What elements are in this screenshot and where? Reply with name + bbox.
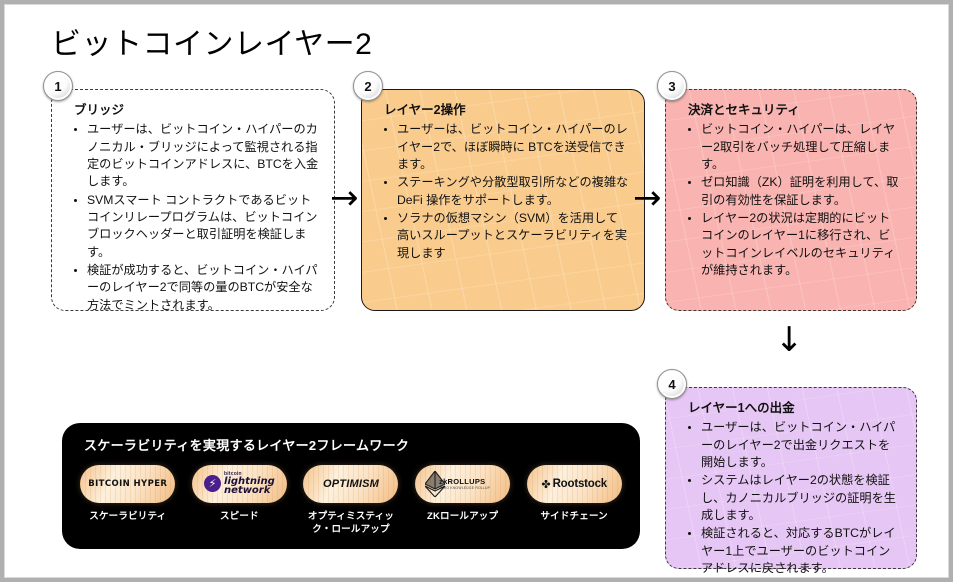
logo-caption: スピード [220,511,259,524]
logo-caption: ZKロールアップ [427,511,498,524]
arrow-right-icon: → [633,181,662,215]
lightning-network-logo-icon: ⚡ bitcoin lightning network [192,465,287,503]
list-item: 検証されると、対応するBTCがレイヤー1上でユーザーのビットコインアドレスに戻さ… [701,525,902,577]
card-bullets-4: ユーザーは、ビットコイン・ハイパーのレイヤー2で出金リクエストを開始します。 シ… [684,419,902,577]
logo-cell-zk-rollups: zkROLLUPS ZERO KNOWLEDGE ROLLUP ZKロールアップ [411,465,515,524]
rootstock-logo-icon: ✤ Rootstock [527,465,622,503]
list-item: ユーザーは、ビットコイン・ハイパーのレイヤー2で、ほぼ瞬時に BTCを送受信でき… [397,121,630,173]
list-item: ユーザーは、ビットコイン・ハイパーのレイヤー2で出金リクエストを開始します。 [701,419,902,471]
list-item: SVMスマート コントラクトであるビットコインリレープログラムは、ビットコインブ… [87,192,320,261]
bitcoin-hyper-logo-icon: BITCOIN HYPER [80,465,175,503]
logo-caption: スケーラビリティ [89,511,166,524]
list-item: システムはレイヤー2の状態を検証し、カノニカルブリッジの証明を生成します。 [701,472,902,524]
lightning-bolt-icon: ⚡ [204,475,221,492]
logo-brand-text: OPTIMISM [323,478,379,490]
logo-cell-rootstock: ✤ Rootstock サイドチェーン [522,465,626,524]
step-card-layer1-withdrawal: レイヤー1への出金 ユーザーは、ビットコイン・ハイパーのレイヤー2で出金リクエス… [665,387,917,569]
step-badge-4: 4 [657,369,687,399]
list-item: ゼロ知識（ZK）証明を利用して、取引の有効性を保証します。 [701,174,902,209]
step-badge-3: 3 [657,71,687,101]
arrow-down-icon: ↓ [775,323,804,357]
list-item: 検証が成功すると、ビットコイン・ハイパーのレイヤー2で同等の量のBTCが安全な方… [87,262,320,314]
arrow-right-icon: → [330,181,359,215]
card-bullets-1: ユーザーは、ビットコイン・ハイパーのカノニカル・ブリッジによって監視される指定の… [70,121,320,314]
logo-brand-text: zkROLLUPS [439,478,485,486]
step-card-bridge: ブリッジ ユーザーは、ビットコイン・ハイパーのカノニカル・ブリッジによって監視さ… [51,89,335,311]
diagram-canvas: ビットコインレイヤー2 ブリッジ ユーザーは、ビットコイン・ハイパーのカノニカル… [4,4,949,578]
card-bullets-3: ビットコイン・ハイパーは、レイヤー2取引をバッチ処理して圧縮します。 ゼロ知識（… [684,121,902,279]
list-item: レイヤー2の状況は定期的にビットコインのレイヤー1に移行され、ビットコインレイベ… [701,210,902,279]
step-card-layer2-operations: レイヤー2操作 ユーザーは、ビットコイン・ハイパーのレイヤー2で、ほぼ瞬時に B… [361,89,645,311]
zk-rollups-logo-icon: zkROLLUPS ZERO KNOWLEDGE ROLLUP [415,465,510,503]
logo-brand-text: BITCOIN HYPER [88,479,167,489]
logo-brand-subtext: ZERO KNOWLEDGE ROLLUP [439,487,490,490]
page-title: ビットコインレイヤー2 [51,19,372,63]
step-badge-1: 1 [43,71,73,101]
list-item: ステーキングや分散型取引所などの複雑なDeFi 操作をサポートします。 [397,174,630,209]
step-badge-2: 2 [353,71,383,101]
logo-caption: オプティミスティック・ロールアップ [299,511,403,537]
logo-cell-bitcoin-hyper: BITCOIN HYPER スケーラビリティ [76,465,180,524]
logo-brand-text: Rootstock [553,478,607,490]
card-bullets-2: ユーザーは、ビットコイン・ハイパーのレイヤー2で、ほぼ瞬時に BTCを送受信でき… [380,121,630,262]
logo-caption: サイドチェーン [540,511,607,524]
framework-logo-row: BITCOIN HYPER スケーラビリティ ⚡ bitcoin lightni… [62,465,640,537]
step-card-settlement-security: 決済とセキュリティ ビットコイン・ハイパーは、レイヤー2取引をバッチ処理して圧縮… [665,89,917,311]
logo-cell-lightning-network: ⚡ bitcoin lightning network スピード [187,465,291,524]
logo-brand-line2: network [224,486,275,496]
list-item: ソラナの仮想マシン（SVM）を活用して高いスループットとスケーラビリティを実現し… [397,210,630,262]
card-title-2: レイヤー2操作 [384,102,630,118]
list-item: ビットコイン・ハイパーは、レイヤー2取引をバッチ処理して圧縮します。 [701,121,902,173]
card-title-3: 決済とセキュリティ [688,102,902,118]
framework-title: スケーラビリティを実現するレイヤー2フレームワーク [84,435,409,454]
framework-panel: スケーラビリティを実現するレイヤー2フレームワーク BITCOIN HYPER … [62,423,640,549]
card-title-1: ブリッジ [74,102,320,118]
list-item: ユーザーは、ビットコイン・ハイパーのカノニカル・ブリッジによって監視される指定の… [87,121,320,190]
optimism-logo-icon: OPTIMISM [303,465,398,503]
card-title-4: レイヤー1への出金 [688,400,902,416]
logo-cell-optimism: OPTIMISM オプティミスティック・ロールアップ [299,465,403,537]
rootstock-mark-icon: ✤ [541,478,550,491]
